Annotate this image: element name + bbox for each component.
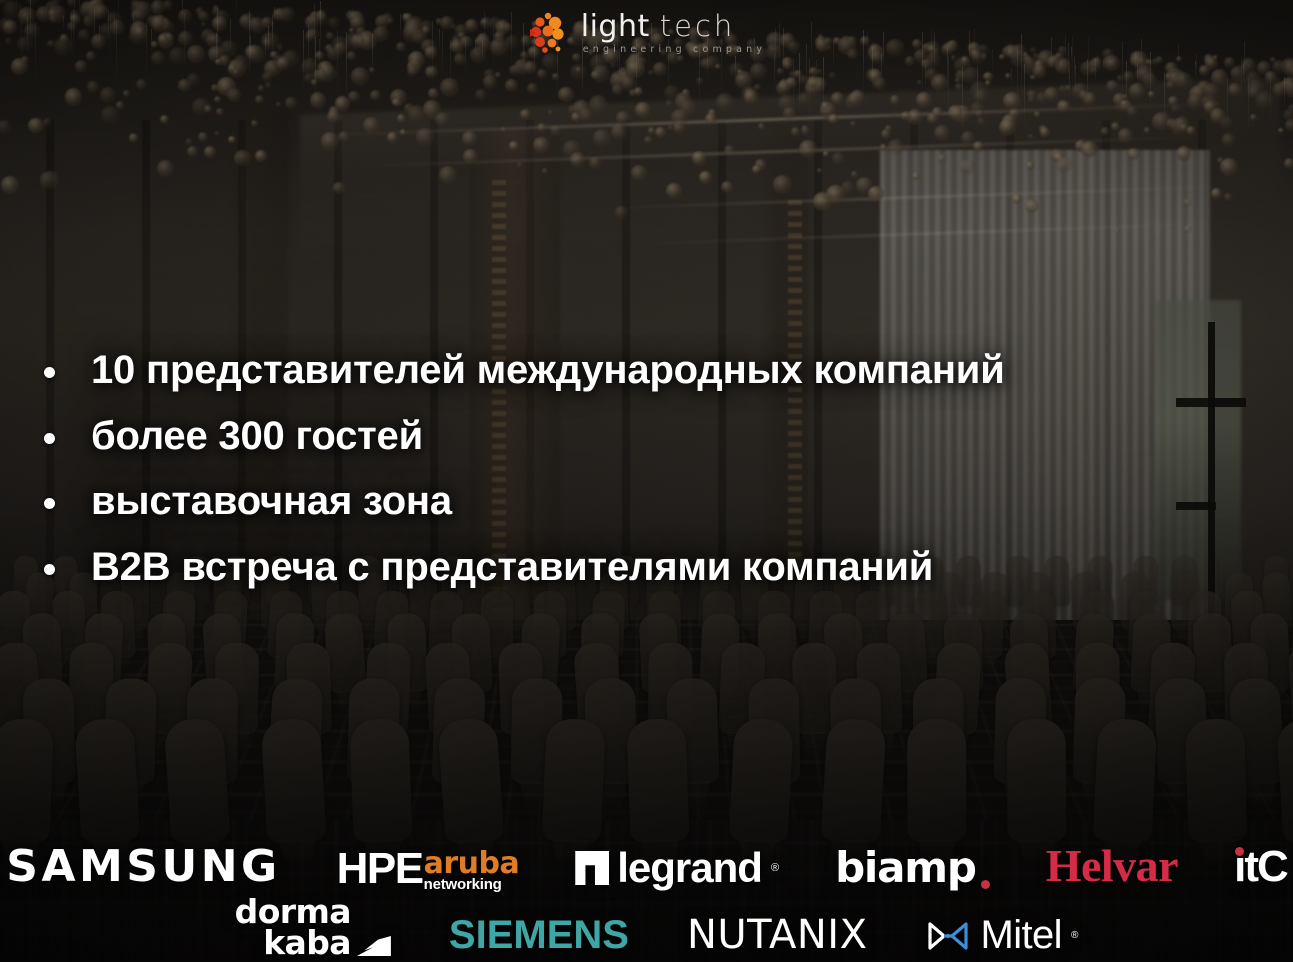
mitel-bowtie-icon [925, 921, 971, 951]
biamp-dot-icon [981, 880, 990, 889]
sponsor-logo-itc[interactable]: itC [1234, 842, 1287, 892]
legrand-square-icon [575, 851, 609, 885]
lighttech-flame-dots-icon [527, 12, 569, 54]
biamp-wordmark: biamp [835, 843, 976, 892]
logo-wordmark: light tech engineering company [581, 12, 766, 55]
aruba-lockup: aruba networking [424, 848, 520, 892]
dormakaba-word-kaba: kaba [263, 927, 351, 958]
aruba-wordmark: aruba [424, 849, 520, 879]
highlights-list: 10 представителей международных компаний… [44, 348, 1264, 610]
sponsor-logo-legrand[interactable]: legrand ® [575, 844, 779, 892]
lighttech-logo[interactable]: light tech engineering company [0, 8, 1293, 58]
bullet-dot-icon [44, 367, 55, 378]
sponsor-logo-helvar[interactable]: Helvar [1046, 839, 1178, 892]
logo-word-light: light [581, 12, 650, 42]
list-item: выставочная зона [44, 479, 1264, 525]
bullet-dot-icon [44, 498, 55, 509]
sponsor-row-1: SAMSUNG HPE aruba networking legrand ® b… [18, 839, 1275, 892]
dormakaba-wordmark: dorma kaba [235, 896, 351, 958]
sponsor-logo-dormakaba[interactable]: dorma kaba [235, 896, 391, 958]
sponsor-logo-hpe-aruba[interactable]: HPE aruba networking [337, 848, 520, 892]
dormakaba-arrow-icon [357, 936, 391, 956]
hpe-wordmark: HPE [337, 848, 423, 890]
list-item-label: 10 представителей международных компаний [91, 348, 1005, 394]
sponsor-logo-biamp[interactable]: biamp [835, 843, 990, 892]
sponsor-logo-strip: SAMSUNG HPE aruba networking legrand ® b… [0, 839, 1293, 958]
mitel-wordmark: Mitel [980, 913, 1061, 958]
sponsor-row-2: dorma kaba SIEMENS NUTANIX Mitel ® [18, 896, 1275, 958]
sponsor-logo-samsung[interactable]: SAMSUNG [6, 841, 280, 892]
legrand-registered-mark: ® [771, 862, 779, 874]
bullet-dot-icon [44, 433, 55, 444]
list-item-label: B2B встреча с представителями компаний [91, 545, 933, 591]
list-item: более 300 гостей [44, 414, 1264, 460]
list-item: 10 представителей международных компаний [44, 348, 1264, 394]
list-item-label: более 300 гостей [91, 414, 423, 460]
logo-tagline: engineering company [583, 45, 766, 55]
sponsor-logo-mitel[interactable]: Mitel ® [925, 913, 1078, 958]
legrand-wordmark: legrand [617, 844, 762, 892]
mitel-registered-mark: ® [1071, 930, 1078, 941]
bullet-dot-icon [44, 564, 55, 575]
logo-word-tech: tech [660, 12, 736, 41]
itc-dot-icon [1235, 847, 1244, 856]
sponsor-logo-nutanix[interactable]: NUTANIX [687, 912, 868, 958]
aruba-networking-label: networking [424, 877, 520, 892]
list-item-label: выставочная зона [91, 479, 452, 525]
sponsor-logo-siemens[interactable]: SIEMENS [449, 913, 629, 958]
list-item: B2B встреча с представителями компаний [44, 545, 1264, 591]
presentation-slide: light tech engineering company 10 предст… [0, 0, 1293, 962]
